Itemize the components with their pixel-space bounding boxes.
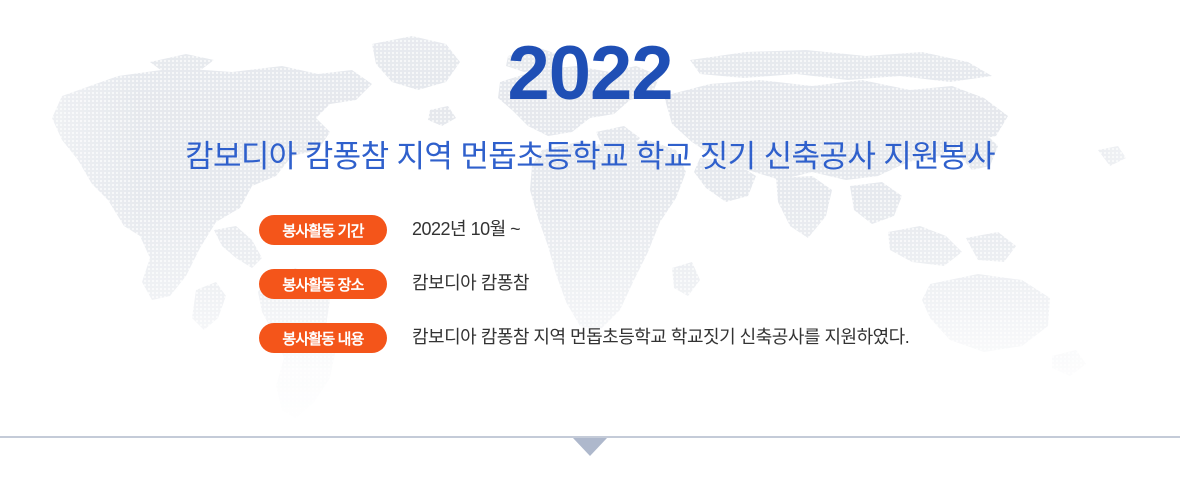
volunteer-activity-banner: 2022 캄보디아 캄퐁참 지역 먼돕초등학교 학교 짓기 신축공사 지원봉사 … xyxy=(0,0,1180,495)
list-item: 봉사활동 기간 2022년 10월 ~ xyxy=(259,210,1059,264)
year-heading: 2022 xyxy=(0,36,1180,112)
activity-location-value: 캄보디아 캄퐁참 xyxy=(412,268,529,298)
list-item: 봉사활동 내용 캄보디아 캄퐁참 지역 먼돕초등학교 학교짓기 신축공사를 지원… xyxy=(259,318,1059,372)
activity-description-value: 캄보디아 캄퐁참 지역 먼돕초등학교 학교짓기 신축공사를 지원하였다. xyxy=(412,322,909,352)
activity-details-list: 봉사활동 기간 2022년 10월 ~ 봉사활동 장소 캄보디아 캄퐁참 봉사활… xyxy=(259,210,1059,372)
status-badge-location: 봉사활동 장소 xyxy=(259,269,387,299)
activity-period-value: 2022년 10월 ~ xyxy=(412,214,520,244)
status-badge-period: 봉사활동 기간 xyxy=(259,215,387,245)
chevron-down-icon xyxy=(573,438,607,456)
status-badge-description: 봉사활동 내용 xyxy=(259,323,387,353)
page-title: 캄보디아 캄퐁참 지역 먼돕초등학교 학교 짓기 신축공사 지원봉사 xyxy=(0,138,1180,175)
list-item: 봉사활동 장소 캄보디아 캄퐁참 xyxy=(259,264,1059,318)
